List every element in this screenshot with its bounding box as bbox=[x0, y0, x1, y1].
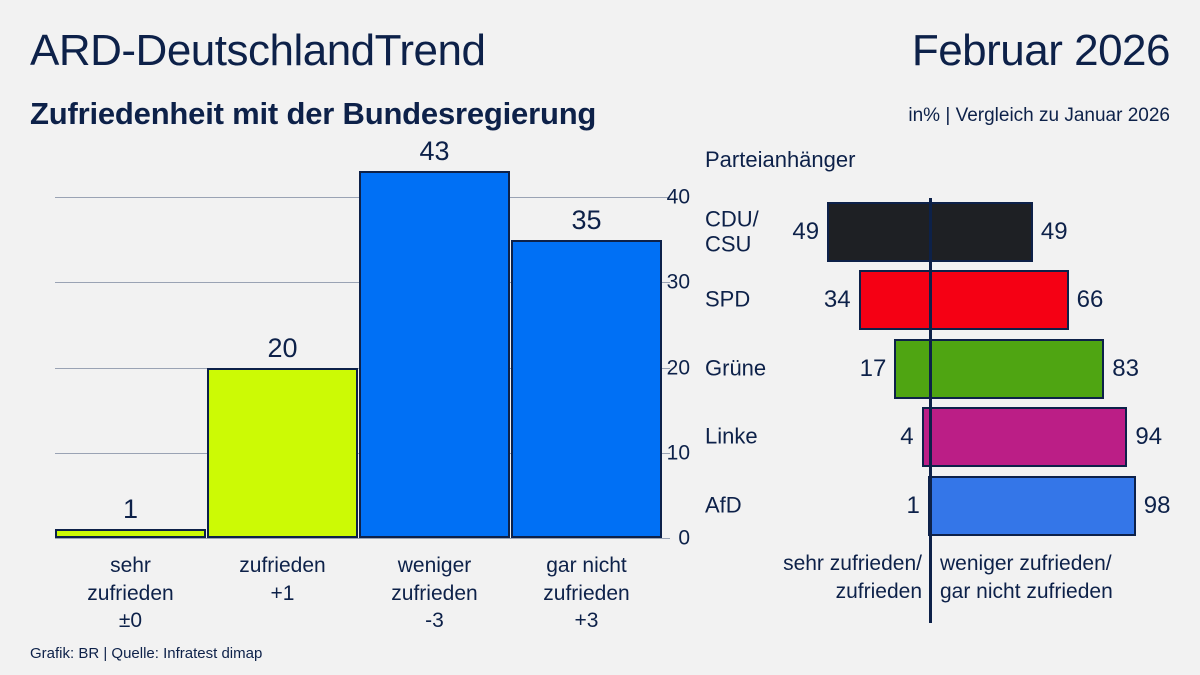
diverging-bar bbox=[859, 270, 1069, 330]
x-axis-baseline bbox=[55, 538, 670, 539]
diverging-bar bbox=[928, 476, 1136, 536]
category-label: weniger zufrieden -3 bbox=[347, 552, 522, 635]
right-axis-label: weniger zufrieden/ gar nicht zufrieden bbox=[940, 550, 1113, 607]
bar bbox=[55, 529, 206, 538]
bar-value-left: 17 bbox=[860, 357, 887, 381]
category-label: sehr zufrieden ±0 bbox=[43, 552, 218, 635]
bar bbox=[511, 240, 662, 538]
party-label: SPD bbox=[705, 288, 825, 313]
party-label: Grüne bbox=[705, 357, 825, 382]
chart-center-divider bbox=[929, 198, 932, 623]
left-axis-label: sehr zufrieden/ zufrieden bbox=[783, 550, 922, 607]
bar-value-right: 94 bbox=[1135, 425, 1162, 449]
diverging-bar bbox=[922, 407, 1128, 467]
category-label: gar nicht zufrieden +3 bbox=[499, 552, 674, 635]
bar-value-right: 98 bbox=[1144, 494, 1171, 518]
bar-value-left: 34 bbox=[824, 288, 851, 312]
bar-value-label: 20 bbox=[207, 335, 358, 362]
bar bbox=[207, 368, 358, 539]
bar-value-right: 83 bbox=[1112, 357, 1139, 381]
bar-value-left: 1 bbox=[907, 494, 920, 518]
party-label: AfD bbox=[705, 494, 825, 519]
bar-value-right: 49 bbox=[1041, 220, 1068, 244]
source-credit: Grafik: BR | Quelle: Infratest dimap bbox=[30, 645, 262, 662]
category-label: zufrieden +1 bbox=[195, 552, 370, 607]
bar-value-left: 4 bbox=[900, 425, 913, 449]
party-label: Linke bbox=[705, 425, 825, 450]
satisfaction-bar-chart: 010203040 1204335 sehr zufrieden ±0zufri… bbox=[0, 0, 690, 675]
y-axis-tick-label: 40 bbox=[644, 187, 690, 208]
bar-value-label: 43 bbox=[359, 138, 510, 165]
party-supporters-chart: CDU/ CSU4949SPD3466Grüne1783Linke494AfD1… bbox=[690, 0, 1200, 675]
infographic-canvas: ARD-DeutschlandTrend Zufriedenheit mit d… bbox=[0, 0, 1200, 675]
bar-value-right: 66 bbox=[1077, 288, 1104, 312]
diverging-bar bbox=[894, 339, 1104, 399]
bar-value-label: 35 bbox=[511, 207, 662, 234]
bar-value-left: 49 bbox=[792, 220, 819, 244]
bar-value-label: 1 bbox=[55, 496, 206, 523]
bar bbox=[359, 171, 510, 538]
